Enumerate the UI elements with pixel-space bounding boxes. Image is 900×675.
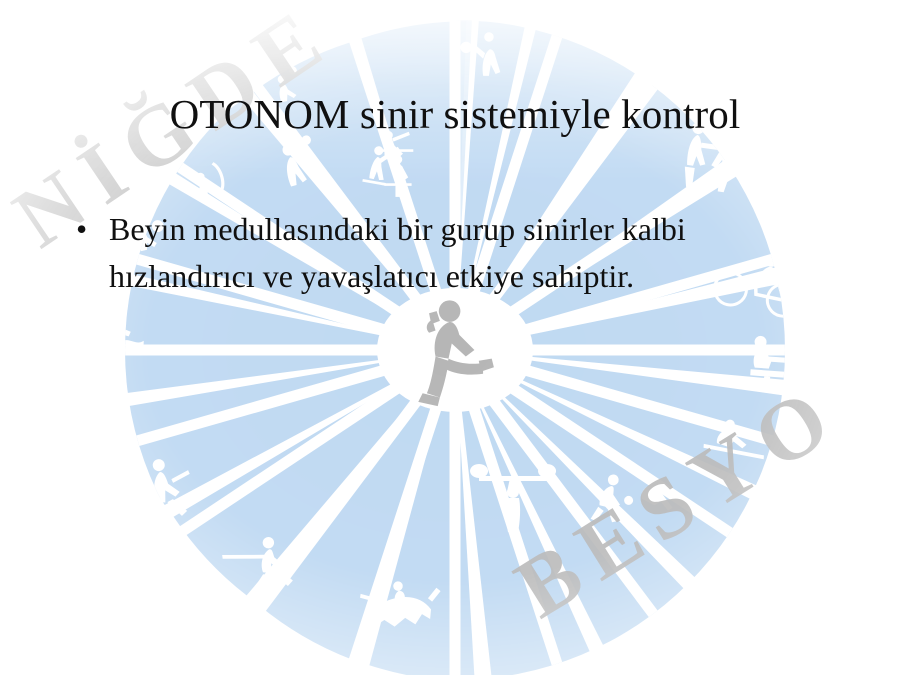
slide-title: OTONOM sinir sistemiyle kontrol	[60, 92, 850, 138]
slide-content: OTONOM sinir sistemiyle kontrol • Beyin …	[0, 0, 900, 675]
bullet-marker-icon: •	[72, 206, 109, 253]
bullet-text: Beyin medullasındaki bir gurup sinirler …	[109, 206, 759, 300]
slide-body: • Beyin medullasındaki bir gurup sinirle…	[72, 206, 792, 300]
presentation-slide: NİĞDE BESYO OTONOM sinir sistemiyle kont…	[0, 0, 900, 675]
bullet-list-item: • Beyin medullasındaki bir gurup sinirle…	[72, 206, 792, 300]
